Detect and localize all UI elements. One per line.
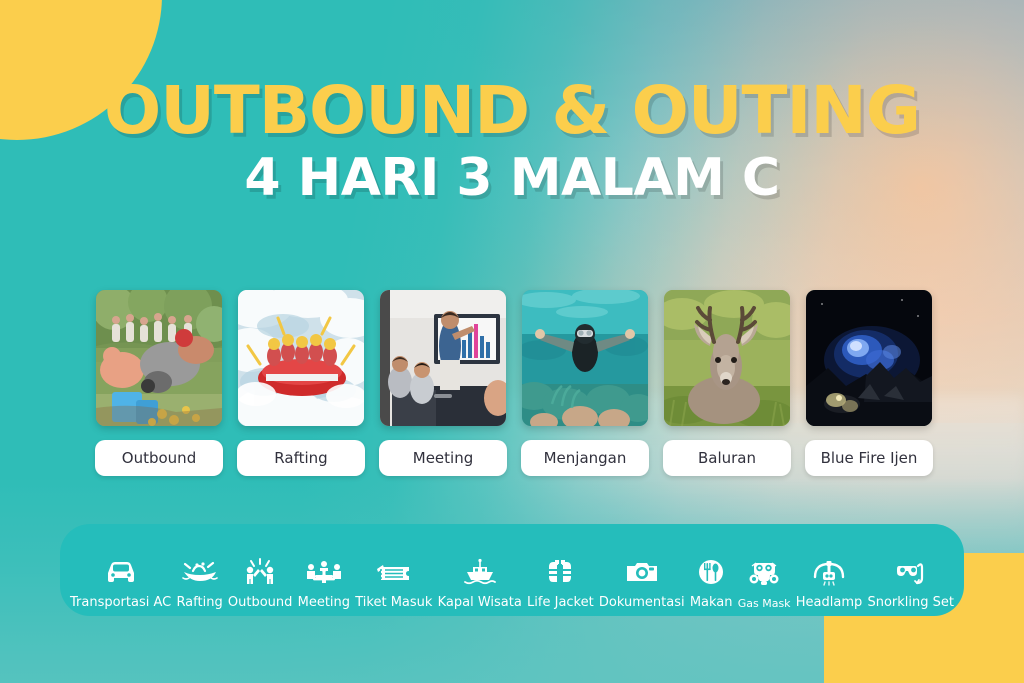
facility-label: Dokumentasi [599, 595, 685, 610]
promo-poster: OUTBOUND & OUTING 4 HARI 3 MALAM C [0, 0, 1024, 683]
facility-label: Rafting [176, 595, 222, 610]
poster-title: OUTBOUND & OUTING [0, 78, 1024, 144]
card-label: Outbound [95, 440, 223, 476]
facility-label: Life Jacket [527, 595, 594, 610]
card-label: Meeting [379, 440, 507, 476]
facility-item-makan[interactable]: Makan [690, 554, 733, 610]
life-jacket-icon [544, 554, 576, 590]
facility-label: Kapal Wisata [438, 595, 522, 610]
facility-item-rafting[interactable]: Rafting [176, 554, 222, 610]
snorkel-mask-icon [893, 554, 929, 590]
headline-block: OUTBOUND & OUTING 4 HARI 3 MALAM C [0, 78, 1024, 204]
facility-item-dokumentasi[interactable]: Dokumentasi [599, 554, 685, 610]
facility-label: Meeting [298, 595, 350, 610]
raft-boat-icon [181, 554, 219, 590]
facility-label: Transportasi AC [70, 595, 171, 610]
facility-label: Tiket Masuk [355, 595, 432, 610]
card-label: Rafting [237, 440, 365, 476]
deer-in-savanna-photo [664, 290, 790, 426]
facility-item-outbound[interactable]: Outbound [228, 554, 293, 610]
camera-icon [625, 554, 659, 590]
destination-card[interactable]: Baluran [664, 290, 790, 476]
destination-card[interactable]: Meeting [380, 290, 506, 476]
facility-item-headlamp[interactable]: Headlamp [796, 554, 863, 610]
ticket-icon [375, 554, 413, 590]
business-meeting-presentation-photo [380, 290, 506, 426]
facility-item-meeting[interactable]: Meeting [298, 554, 350, 610]
outbound-team-game-photo [96, 290, 222, 426]
facility-label: Makan [690, 595, 733, 610]
high-five-icon [243, 554, 277, 590]
facility-item-kapal-wisata[interactable]: Kapal Wisata [438, 554, 522, 610]
whitewater-rafting-photo [238, 290, 364, 426]
meeting-table-icon [305, 554, 343, 590]
facility-label: Outbound [228, 595, 293, 610]
destination-card-row: Outbound [96, 290, 932, 476]
card-label: Baluran [663, 440, 791, 476]
gas-mask-icon [748, 556, 780, 592]
destination-card[interactable]: Rafting [238, 290, 364, 476]
facility-label: Gas Mask [738, 597, 791, 610]
facility-label: Snorkling Set [867, 595, 954, 610]
underwater-snorkeling-coral-photo [522, 290, 648, 426]
poster-subtitle: 4 HARI 3 MALAM C [0, 152, 1024, 204]
facility-item-snorkling-set[interactable]: Snorkling Set [867, 554, 954, 610]
facility-bar: Transportasi AC Rafting [60, 524, 964, 616]
fork-spoon-plate-icon [697, 554, 725, 590]
facility-item-transportasi-ac[interactable]: Transportasi AC [70, 554, 171, 610]
facility-item-life-jacket[interactable]: Life Jacket [527, 554, 594, 610]
ship-icon [463, 554, 497, 590]
destination-card[interactable]: Blue Fire Ijen [806, 290, 932, 476]
headlamp-icon [810, 554, 848, 590]
card-label: Menjangan [521, 440, 649, 476]
destination-card[interactable]: Menjangan [522, 290, 648, 476]
card-label: Blue Fire Ijen [805, 440, 933, 476]
car-icon [104, 554, 138, 590]
facility-label: Headlamp [796, 595, 863, 610]
facility-item-gas-mask[interactable]: Gas Mask [738, 556, 791, 610]
destination-card[interactable]: Outbound [96, 290, 222, 476]
facility-item-tiket-masuk[interactable]: Tiket Masuk [355, 554, 432, 610]
blue-fire-ijen-crater-night-photo [806, 290, 932, 426]
